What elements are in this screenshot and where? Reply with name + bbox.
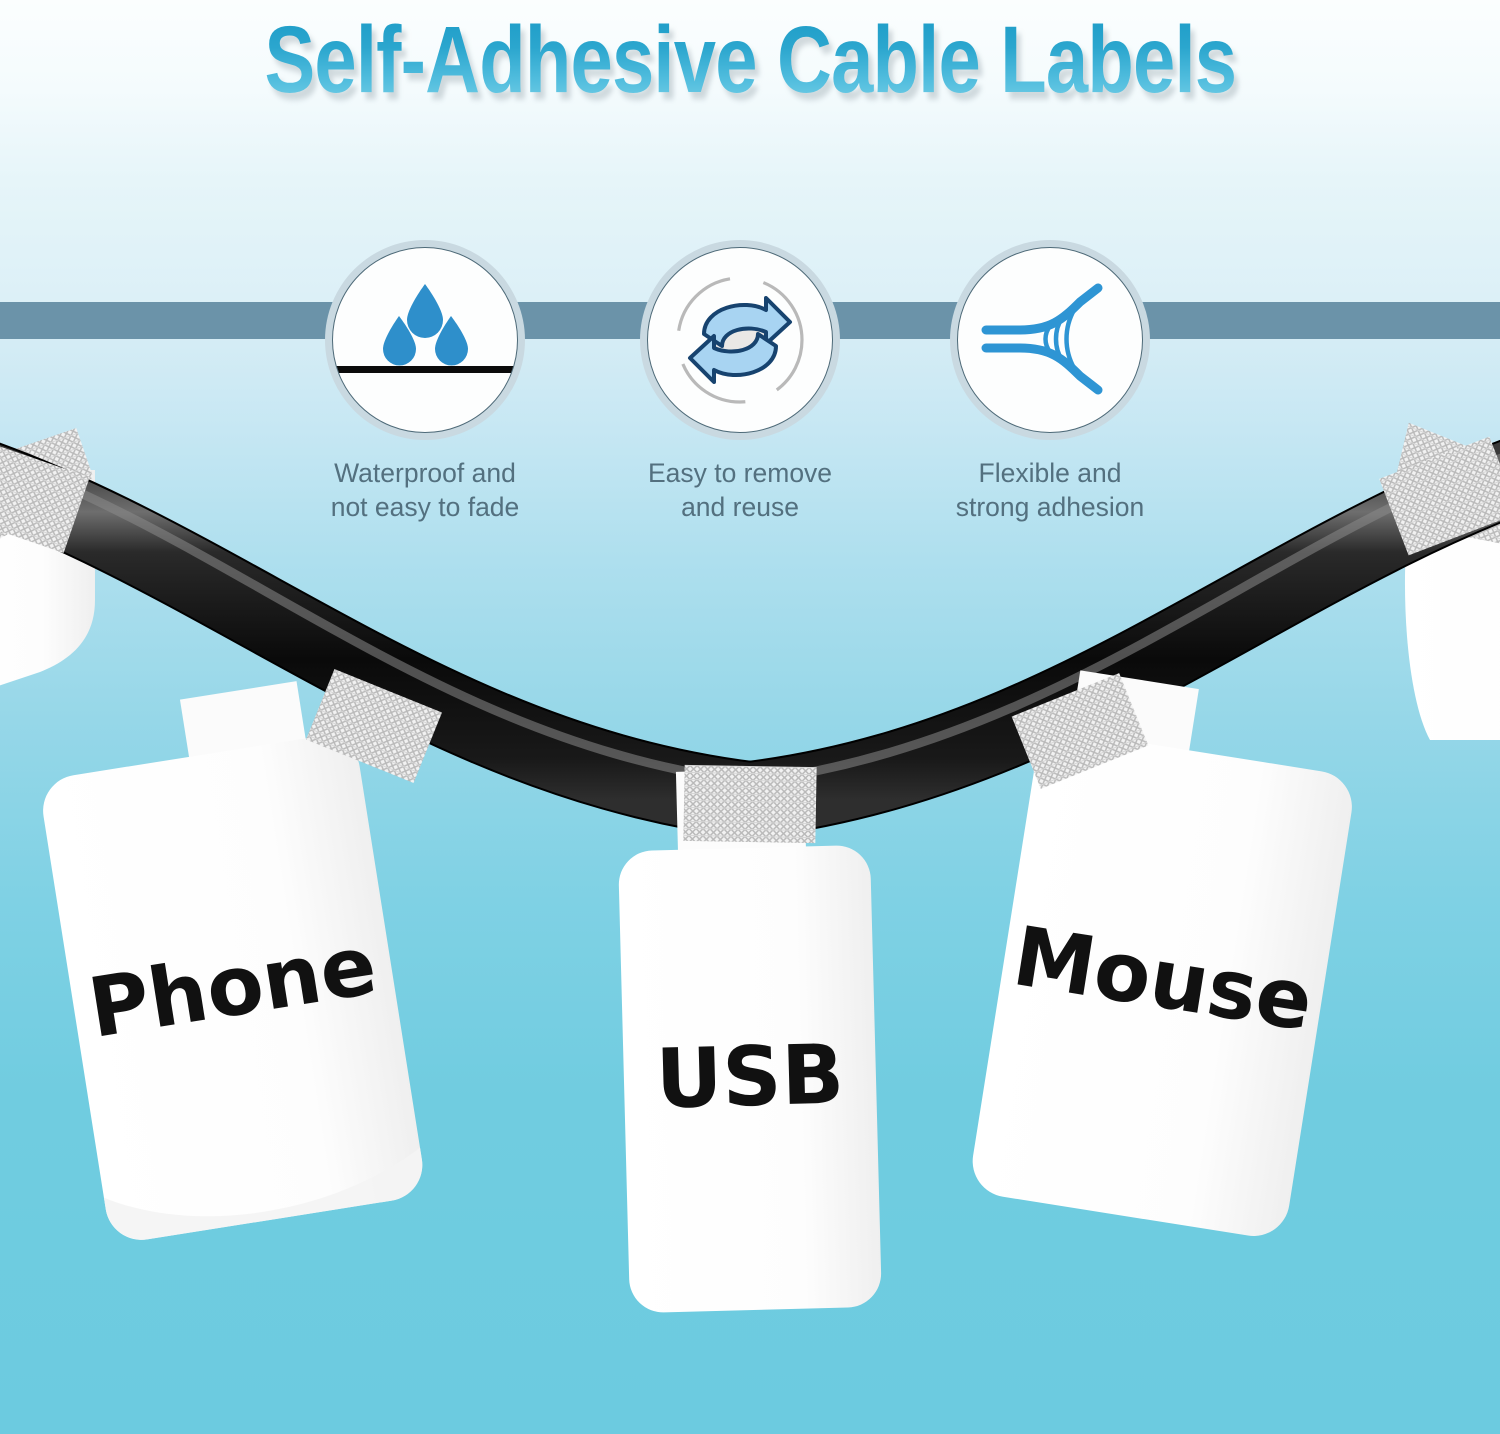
product-photo-cable-with-labels: Phone USB	[0, 0, 1500, 1434]
label-tag-usb-text: USB	[655, 1028, 846, 1128]
label-tag-mouse[interactable]: Mouse	[967, 666, 1366, 1242]
label-tag-usb[interactable]: USB	[616, 765, 882, 1313]
cable-wrap-usb	[683, 765, 816, 843]
label-tag-phone[interactable]: Phone	[29, 669, 442, 1245]
product-marketing-image: Self-Adhesive Cable Labels Self-Adhesive…	[0, 0, 1500, 1434]
